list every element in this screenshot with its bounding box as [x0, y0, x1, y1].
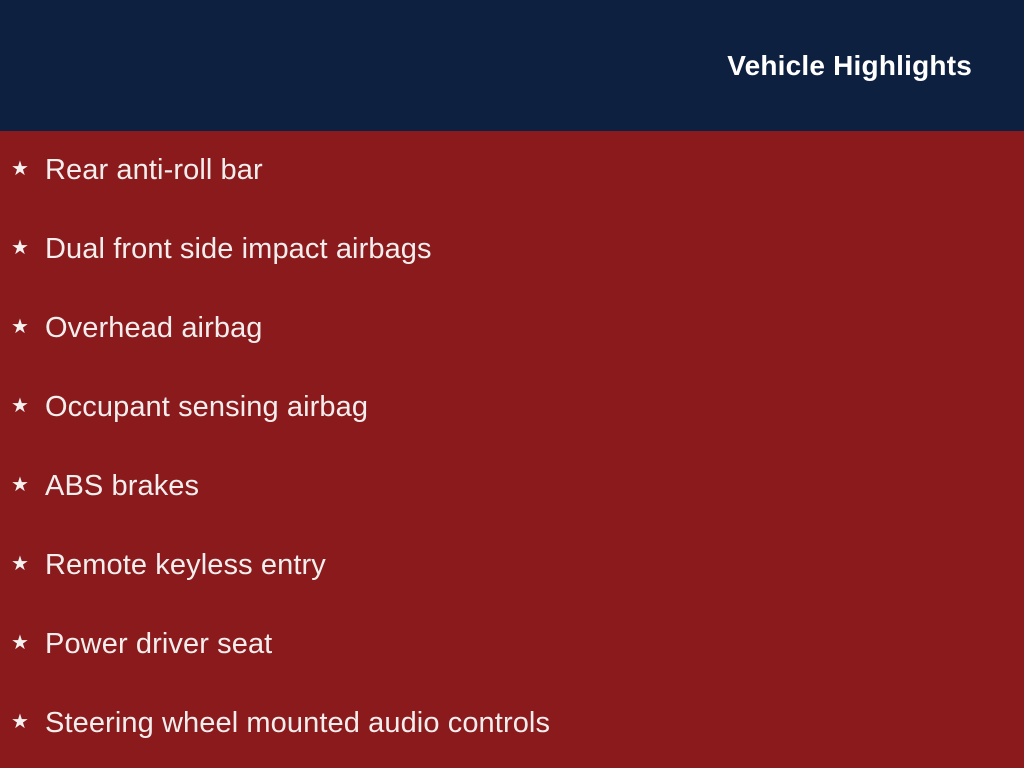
star-bullet-icon: ★	[11, 159, 43, 179]
list-item: ★Remote keyless entry	[0, 545, 1024, 585]
list-item-label: Overhead airbag	[45, 313, 263, 343]
list-item: ★Overhead airbag	[0, 308, 1024, 348]
list-item-label: Rear anti-roll bar	[45, 155, 263, 185]
list-item-label: Occupant sensing airbag	[45, 392, 368, 422]
star-bullet-icon: ★	[11, 633, 43, 653]
list-item-label: Dual front side impact airbags	[45, 234, 432, 264]
list-item: ★Occupant sensing airbag	[0, 387, 1024, 427]
slide-body-panel: ★Rear anti-roll bar★Dual front side impa…	[0, 131, 1024, 768]
list-item-label: Remote keyless entry	[45, 550, 326, 580]
list-item-label: ABS brakes	[45, 471, 199, 501]
list-item: ★Dual front side impact airbags	[0, 229, 1024, 269]
list-item: ★Rear anti-roll bar	[0, 150, 1024, 190]
star-bullet-icon: ★	[11, 712, 43, 732]
list-item: ★Steering wheel mounted audio controls	[0, 703, 1024, 743]
star-bullet-icon: ★	[11, 396, 43, 416]
star-bullet-icon: ★	[11, 475, 43, 495]
list-item: ★ABS brakes	[0, 466, 1024, 506]
vehicle-highlights-slide: Vehicle Highlights ★Rear anti-roll bar★D…	[0, 0, 1024, 768]
star-bullet-icon: ★	[11, 554, 43, 574]
page-title: Vehicle Highlights	[727, 0, 972, 131]
list-item-label: Steering wheel mounted audio controls	[45, 708, 550, 738]
list-item-label: Power driver seat	[45, 629, 272, 659]
star-bullet-icon: ★	[11, 317, 43, 337]
list-item: ★Power driver seat	[0, 624, 1024, 664]
slide-header-band: Vehicle Highlights	[0, 0, 1024, 131]
star-bullet-icon: ★	[11, 238, 43, 258]
